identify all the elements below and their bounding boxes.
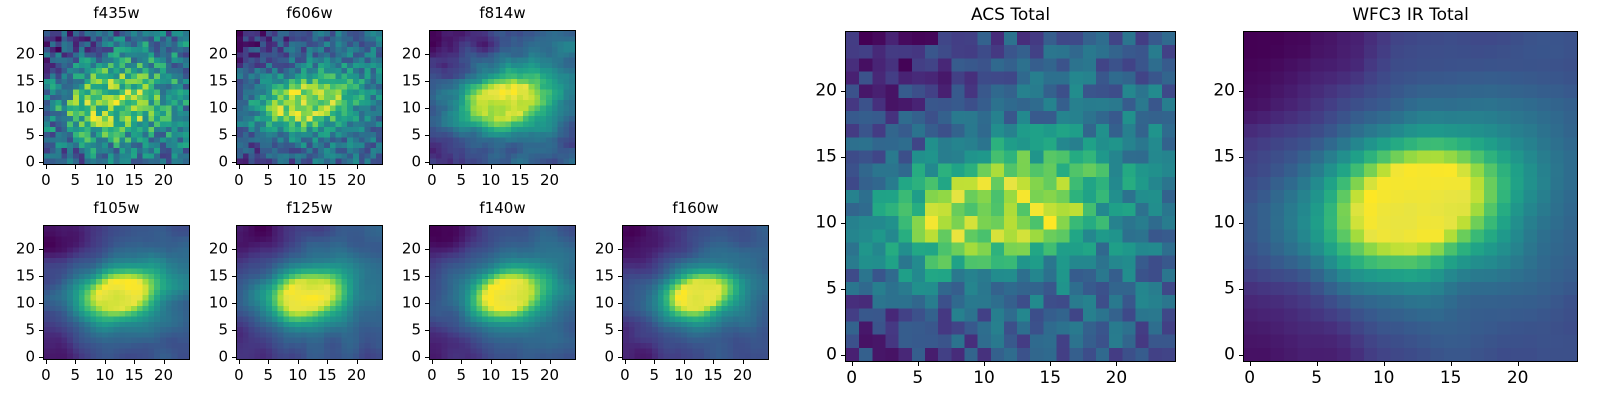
y-ticklabel-f140w-1: 5 xyxy=(384,323,421,338)
y-ticklabel-f814w-1: 5 xyxy=(384,128,421,143)
x-tick-f435w-2 xyxy=(105,165,106,169)
y-ticklabel-wfc3-ir-total-2: 10 xyxy=(1198,214,1235,231)
x-tick-wfc3-ir-total-3 xyxy=(1451,362,1452,366)
x-ticklabel-f105w-1: 5 xyxy=(71,368,81,383)
y-tick-wfc3-ir-total-4 xyxy=(1239,91,1243,92)
y-ticklabel-f140w-3: 15 xyxy=(384,269,421,284)
x-ticklabel-f160w-0: 0 xyxy=(620,368,630,383)
y-ticklabel-f435w-3: 15 xyxy=(0,74,35,89)
heatmap-image-acs-total xyxy=(846,32,1175,361)
panel-f814w: f814w0510152005101520 xyxy=(384,4,591,199)
x-ticklabel-f125w-1: 5 xyxy=(264,368,274,383)
x-ticklabel-f814w-2: 10 xyxy=(481,173,500,188)
x-ticklabel-f435w-3: 15 xyxy=(125,173,144,188)
x-ticklabel-f140w-3: 15 xyxy=(511,368,530,383)
x-tick-f160w-4 xyxy=(743,360,744,364)
heatmap-image-f160w xyxy=(623,226,768,359)
y-tick-acs-total-4 xyxy=(841,91,845,92)
y-ticklabel-f435w-2: 10 xyxy=(0,101,35,116)
x-ticklabel-f160w-1: 5 xyxy=(650,368,660,383)
y-tick-f606w-4 xyxy=(232,54,236,55)
x-ticklabel-f814w-0: 0 xyxy=(427,173,437,188)
x-ticklabel-acs-total-1: 5 xyxy=(912,370,923,387)
x-ticklabel-f140w-0: 0 xyxy=(427,368,437,383)
y-ticklabel-wfc3-ir-total-1: 5 xyxy=(1198,281,1235,298)
panel-f140w: f140w0510152005101520 xyxy=(384,199,591,394)
x-tick-f140w-1 xyxy=(461,360,462,364)
x-tick-f125w-1 xyxy=(268,360,269,364)
x-tick-f814w-2 xyxy=(491,165,492,169)
y-ticklabel-f160w-1: 5 xyxy=(577,323,614,338)
y-tick-f105w-2 xyxy=(39,303,43,304)
x-ticklabel-wfc3-ir-total-3: 15 xyxy=(1440,370,1462,387)
heatmap-axes-f814w xyxy=(429,30,576,165)
x-tick-f160w-2 xyxy=(684,360,685,364)
y-tick-f160w-4 xyxy=(618,249,622,250)
y-ticklabel-f814w-3: 15 xyxy=(384,74,421,89)
y-ticklabel-wfc3-ir-total-4: 20 xyxy=(1198,82,1235,99)
heatmap-axes-acs-total xyxy=(845,31,1176,362)
heatmap-image-f125w xyxy=(237,226,382,359)
figure-canvas: f435w0510152005101520f606w05101520051015… xyxy=(0,0,1600,400)
y-ticklabel-f125w-4: 20 xyxy=(191,242,228,257)
panel-title-f140w: f140w xyxy=(429,201,576,216)
y-tick-f814w-3 xyxy=(425,81,429,82)
x-ticklabel-wfc3-ir-total-4: 20 xyxy=(1507,370,1529,387)
y-ticklabel-f105w-4: 20 xyxy=(0,242,35,257)
y-ticklabel-acs-total-4: 20 xyxy=(800,82,837,99)
x-tick-f435w-1 xyxy=(75,165,76,169)
y-tick-f105w-4 xyxy=(39,249,43,250)
x-tick-acs-total-2 xyxy=(984,362,985,366)
panel-title-wfc3-ir-total: WFC3 IR Total xyxy=(1243,7,1578,24)
x-ticklabel-acs-total-2: 10 xyxy=(973,370,995,387)
y-tick-f606w-2 xyxy=(232,108,236,109)
y-tick-f814w-2 xyxy=(425,108,429,109)
x-tick-f606w-1 xyxy=(268,165,269,169)
y-tick-f125w-3 xyxy=(232,276,236,277)
x-tick-f105w-1 xyxy=(75,360,76,364)
x-tick-f606w-0 xyxy=(239,165,240,169)
y-ticklabel-f606w-4: 20 xyxy=(191,47,228,62)
y-tick-f140w-0 xyxy=(425,357,429,358)
y-ticklabel-f435w-1: 5 xyxy=(0,128,35,143)
y-tick-f435w-3 xyxy=(39,81,43,82)
y-ticklabel-f606w-3: 15 xyxy=(191,74,228,89)
x-ticklabel-f105w-0: 0 xyxy=(41,368,51,383)
heatmap-image-f140w xyxy=(430,226,575,359)
heatmap-image-f105w xyxy=(44,226,189,359)
heatmap-image-f606w xyxy=(237,31,382,164)
panel-f125w: f125w0510152005101520 xyxy=(191,199,398,394)
x-ticklabel-f140w-4: 20 xyxy=(540,368,559,383)
panel-title-f160w: f160w xyxy=(622,201,769,216)
y-ticklabel-f105w-3: 15 xyxy=(0,269,35,284)
x-ticklabel-f606w-3: 15 xyxy=(318,173,337,188)
y-tick-f435w-4 xyxy=(39,54,43,55)
panel-title-f606w: f606w xyxy=(236,6,383,21)
y-tick-f140w-2 xyxy=(425,303,429,304)
x-tick-f435w-3 xyxy=(134,165,135,169)
y-tick-acs-total-0 xyxy=(841,355,845,356)
x-tick-wfc3-ir-total-1 xyxy=(1317,362,1318,366)
x-tick-f160w-3 xyxy=(713,360,714,364)
x-tick-f814w-4 xyxy=(550,165,551,169)
heatmap-image-f814w xyxy=(430,31,575,164)
y-tick-f435w-1 xyxy=(39,135,43,136)
y-ticklabel-f125w-2: 10 xyxy=(191,296,228,311)
heatmap-axes-f140w xyxy=(429,225,576,360)
y-tick-wfc3-ir-total-1 xyxy=(1239,289,1243,290)
x-ticklabel-f160w-2: 10 xyxy=(674,368,693,383)
panel-wfc3-ir-total: WFC3 IR Total0510152005101520 xyxy=(1198,5,1593,396)
y-tick-wfc3-ir-total-0 xyxy=(1239,355,1243,356)
y-ticklabel-acs-total-1: 5 xyxy=(800,281,837,298)
y-tick-wfc3-ir-total-2 xyxy=(1239,223,1243,224)
x-ticklabel-f606w-2: 10 xyxy=(288,173,307,188)
panel-f105w: f105w0510152005101520 xyxy=(0,199,205,394)
y-ticklabel-wfc3-ir-total-0: 0 xyxy=(1198,347,1235,364)
x-ticklabel-wfc3-ir-total-0: 0 xyxy=(1244,370,1255,387)
x-tick-f125w-3 xyxy=(327,360,328,364)
y-tick-f105w-1 xyxy=(39,330,43,331)
heatmap-axes-f105w xyxy=(43,225,190,360)
x-ticklabel-f814w-1: 5 xyxy=(457,173,467,188)
x-tick-f140w-2 xyxy=(491,360,492,364)
x-tick-f814w-1 xyxy=(461,165,462,169)
y-ticklabel-f125w-3: 15 xyxy=(191,269,228,284)
x-tick-acs-total-4 xyxy=(1116,362,1117,366)
y-ticklabel-wfc3-ir-total-3: 15 xyxy=(1198,148,1235,165)
x-ticklabel-acs-total-4: 20 xyxy=(1106,370,1128,387)
panel-title-f105w: f105w xyxy=(43,201,190,216)
panel-f435w: f435w0510152005101520 xyxy=(0,4,205,199)
panel-f160w: f160w0510152005101520 xyxy=(577,199,784,394)
y-ticklabel-f140w-0: 0 xyxy=(384,350,421,365)
x-ticklabel-f140w-1: 5 xyxy=(457,368,467,383)
y-ticklabel-acs-total-0: 0 xyxy=(800,347,837,364)
y-tick-f125w-2 xyxy=(232,303,236,304)
y-tick-f160w-1 xyxy=(618,330,622,331)
x-ticklabel-f125w-4: 20 xyxy=(347,368,366,383)
y-ticklabel-f140w-2: 10 xyxy=(384,296,421,311)
panel-title-f125w: f125w xyxy=(236,201,383,216)
x-ticklabel-f435w-4: 20 xyxy=(154,173,173,188)
y-ticklabel-f140w-4: 20 xyxy=(384,242,421,257)
heatmap-axes-f125w xyxy=(236,225,383,360)
x-tick-f814w-0 xyxy=(432,165,433,169)
panel-title-f435w: f435w xyxy=(43,6,190,21)
y-ticklabel-f160w-0: 0 xyxy=(577,350,614,365)
y-ticklabel-f435w-4: 20 xyxy=(0,47,35,62)
x-ticklabel-f606w-0: 0 xyxy=(234,173,244,188)
y-ticklabel-f105w-0: 0 xyxy=(0,350,35,365)
y-ticklabel-f435w-0: 0 xyxy=(0,155,35,170)
y-tick-f606w-1 xyxy=(232,135,236,136)
x-tick-wfc3-ir-total-2 xyxy=(1384,362,1385,366)
x-tick-f125w-0 xyxy=(239,360,240,364)
y-ticklabel-f160w-3: 15 xyxy=(577,269,614,284)
x-ticklabel-f125w-2: 10 xyxy=(288,368,307,383)
y-tick-f125w-4 xyxy=(232,249,236,250)
x-ticklabel-f160w-4: 20 xyxy=(733,368,752,383)
x-ticklabel-f105w-2: 10 xyxy=(95,368,114,383)
y-tick-f814w-4 xyxy=(425,54,429,55)
y-ticklabel-f105w-2: 10 xyxy=(0,296,35,311)
y-ticklabel-f105w-1: 5 xyxy=(0,323,35,338)
y-tick-f814w-1 xyxy=(425,135,429,136)
y-ticklabel-f814w-0: 0 xyxy=(384,155,421,170)
y-tick-f814w-0 xyxy=(425,162,429,163)
panel-acs-total: ACS Total0510152005101520 xyxy=(800,5,1191,396)
x-ticklabel-f105w-3: 15 xyxy=(125,368,144,383)
y-tick-f435w-2 xyxy=(39,108,43,109)
x-ticklabel-f160w-3: 15 xyxy=(704,368,723,383)
x-tick-f105w-0 xyxy=(46,360,47,364)
x-ticklabel-wfc3-ir-total-1: 5 xyxy=(1311,370,1322,387)
x-tick-acs-total-0 xyxy=(852,362,853,366)
x-ticklabel-f606w-4: 20 xyxy=(347,173,366,188)
x-ticklabel-f125w-3: 15 xyxy=(318,368,337,383)
y-tick-acs-total-2 xyxy=(841,223,845,224)
y-tick-f606w-3 xyxy=(232,81,236,82)
y-tick-wfc3-ir-total-3 xyxy=(1239,157,1243,158)
x-tick-f606w-2 xyxy=(298,165,299,169)
x-ticklabel-f125w-0: 0 xyxy=(234,368,244,383)
x-ticklabel-acs-total-3: 15 xyxy=(1039,370,1061,387)
x-tick-acs-total-3 xyxy=(1050,362,1051,366)
x-ticklabel-f435w-0: 0 xyxy=(41,173,51,188)
x-ticklabel-f435w-1: 5 xyxy=(71,173,81,188)
x-tick-f606w-3 xyxy=(327,165,328,169)
x-tick-f105w-3 xyxy=(134,360,135,364)
y-ticklabel-f606w-2: 10 xyxy=(191,101,228,116)
y-ticklabel-f125w-1: 5 xyxy=(191,323,228,338)
x-tick-f140w-4 xyxy=(550,360,551,364)
x-tick-f160w-0 xyxy=(625,360,626,364)
x-tick-f160w-1 xyxy=(654,360,655,364)
x-tick-f606w-4 xyxy=(357,165,358,169)
y-ticklabel-f160w-4: 20 xyxy=(577,242,614,257)
y-tick-f140w-4 xyxy=(425,249,429,250)
x-tick-f814w-3 xyxy=(520,165,521,169)
x-ticklabel-f814w-3: 15 xyxy=(511,173,530,188)
y-ticklabel-f160w-2: 10 xyxy=(577,296,614,311)
y-ticklabel-acs-total-2: 10 xyxy=(800,214,837,231)
heatmap-axes-f435w xyxy=(43,30,190,165)
x-ticklabel-wfc3-ir-total-2: 10 xyxy=(1373,370,1395,387)
x-tick-acs-total-1 xyxy=(918,362,919,366)
y-ticklabel-f814w-4: 20 xyxy=(384,47,421,62)
x-ticklabel-f435w-2: 10 xyxy=(95,173,114,188)
y-tick-f125w-0 xyxy=(232,357,236,358)
y-tick-f160w-2 xyxy=(618,303,622,304)
panel-f606w: f606w0510152005101520 xyxy=(191,4,398,199)
x-tick-f435w-0 xyxy=(46,165,47,169)
x-ticklabel-f606w-1: 5 xyxy=(264,173,274,188)
heatmap-axes-wfc3-ir-total xyxy=(1243,31,1578,362)
y-ticklabel-acs-total-3: 15 xyxy=(800,148,837,165)
y-tick-f105w-0 xyxy=(39,357,43,358)
panel-title-acs-total: ACS Total xyxy=(845,7,1176,24)
x-tick-f435w-4 xyxy=(164,165,165,169)
x-tick-f105w-4 xyxy=(164,360,165,364)
y-tick-f105w-3 xyxy=(39,276,43,277)
x-tick-f125w-2 xyxy=(298,360,299,364)
panel-title-f814w: f814w xyxy=(429,6,576,21)
y-ticklabel-f814w-2: 10 xyxy=(384,101,421,116)
x-tick-wfc3-ir-total-4 xyxy=(1518,362,1519,366)
heatmap-image-f435w xyxy=(44,31,189,164)
y-tick-f606w-0 xyxy=(232,162,236,163)
y-tick-f160w-0 xyxy=(618,357,622,358)
y-tick-f125w-1 xyxy=(232,330,236,331)
y-tick-f140w-3 xyxy=(425,276,429,277)
y-ticklabel-f125w-0: 0 xyxy=(191,350,228,365)
y-ticklabel-f606w-0: 0 xyxy=(191,155,228,170)
y-tick-f160w-3 xyxy=(618,276,622,277)
y-tick-acs-total-3 xyxy=(841,157,845,158)
x-ticklabel-f105w-4: 20 xyxy=(154,368,173,383)
y-tick-f140w-1 xyxy=(425,330,429,331)
heatmap-axes-f606w xyxy=(236,30,383,165)
y-tick-acs-total-1 xyxy=(841,289,845,290)
y-ticklabel-f606w-1: 5 xyxy=(191,128,228,143)
y-tick-f435w-0 xyxy=(39,162,43,163)
x-tick-f140w-0 xyxy=(432,360,433,364)
x-ticklabel-f814w-4: 20 xyxy=(540,173,559,188)
x-tick-wfc3-ir-total-0 xyxy=(1250,362,1251,366)
x-tick-f105w-2 xyxy=(105,360,106,364)
heatmap-image-wfc3-ir-total xyxy=(1244,32,1577,361)
heatmap-axes-f160w xyxy=(622,225,769,360)
x-tick-f125w-4 xyxy=(357,360,358,364)
x-ticklabel-f140w-2: 10 xyxy=(481,368,500,383)
x-tick-f140w-3 xyxy=(520,360,521,364)
x-ticklabel-acs-total-0: 0 xyxy=(846,370,857,387)
